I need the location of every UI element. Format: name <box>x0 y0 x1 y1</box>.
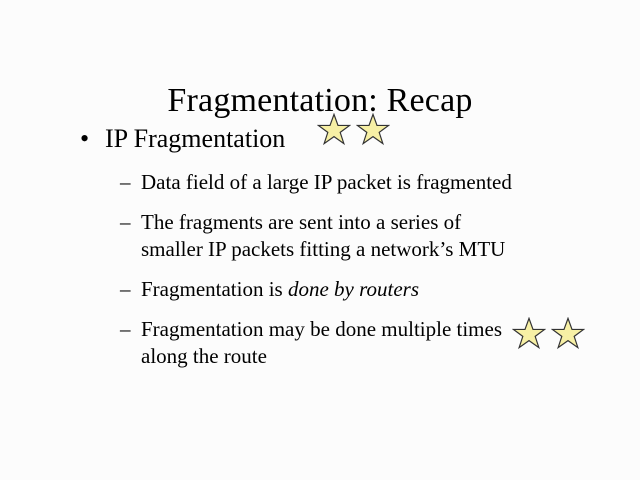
bullet-text-line-2: along the route <box>141 343 502 370</box>
bullet-item-multiple-times: – Fragmentation may be done multiple tim… <box>0 316 640 370</box>
bullet-text-line-2: smaller IP packets fitting a network’s M… <box>141 236 505 263</box>
bullet-marker-dash-icon: – <box>120 316 131 343</box>
bullet-item-data-field: – Data field of a large IP packet is fra… <box>0 169 640 196</box>
bullet-text-emphasis: done by routers <box>288 277 419 301</box>
bullet-item-done-by-routers: – Fragmentation is done by routers <box>0 276 640 303</box>
presentation-slide: Fragmentation: Recap • IP Fragmentation … <box>0 0 640 480</box>
bullet-text-line-1: The fragments are sent into a series of <box>141 209 505 236</box>
bullet-text: The fragments are sent into a series of … <box>120 209 505 263</box>
bullet-marker-dot-icon: • <box>80 122 89 156</box>
bullet-text: Fragmentation may be done multiple times… <box>120 316 502 370</box>
bullet-marker-dash-icon: – <box>120 276 131 303</box>
bullet-item-ip-fragmentation: • IP Fragmentation <box>0 122 640 156</box>
bullet-text: Data field of a large IP packet is fragm… <box>120 169 512 196</box>
slide-body: • IP Fragmentation – Data field of a lar… <box>0 122 640 370</box>
bullet-text: Fragmentation is done by routers <box>120 276 419 303</box>
slide-title: Fragmentation: Recap <box>0 81 640 121</box>
bullet-text: IP Fragmentation <box>84 122 285 156</box>
bullet-item-fragments-sent: – The fragments are sent into a series o… <box>0 209 640 263</box>
bullet-text-plain: Fragmentation is <box>141 277 288 301</box>
bullet-marker-dash-icon: – <box>120 169 131 196</box>
bullet-text-line-1: Fragmentation may be done multiple times <box>141 316 502 343</box>
bullet-marker-dash-icon: – <box>120 209 131 236</box>
